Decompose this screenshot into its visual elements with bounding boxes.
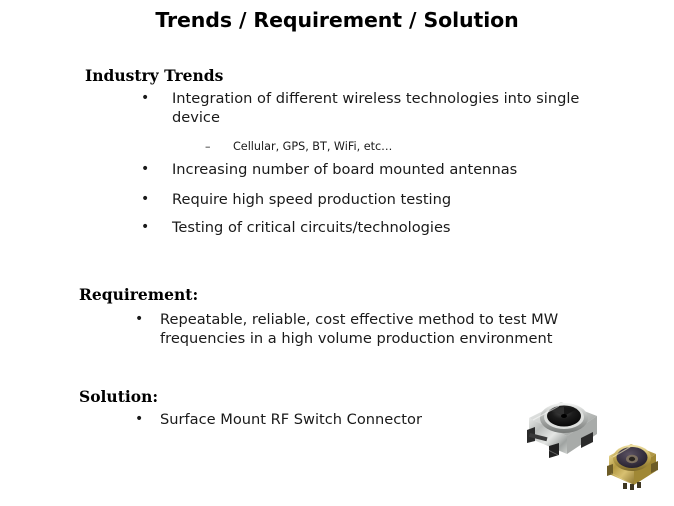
bullet-marker-icon: • <box>141 90 172 108</box>
list-item: • Testing of critical circuits/technolog… <box>141 219 591 238</box>
section-heading-requirement: Requirement: <box>79 285 198 304</box>
slide-canvas: Trends / Requirement / Solution Industry… <box>0 0 674 506</box>
section-heading-industry-trends: Industry Trends <box>85 66 223 85</box>
list-item: • Integration of different wireless tech… <box>141 90 591 127</box>
page-title: Trends / Requirement / Solution <box>0 8 674 32</box>
list-item-text: Increasing number of board mounted anten… <box>172 161 591 180</box>
bullet-marker-icon: • <box>135 411 160 429</box>
bullet-marker-icon: • <box>141 161 172 179</box>
list-item-text: Integration of different wireless techno… <box>172 90 591 127</box>
list-item-text: Require high speed production testing <box>172 191 591 210</box>
bullet-marker-icon: • <box>141 219 172 237</box>
list-item-text: Repeatable, reliable, cost effective met… <box>160 311 605 348</box>
dash-marker-icon: – <box>205 140 233 154</box>
list-item: • Require high speed production testing <box>141 191 591 210</box>
list-item: • Repeatable, reliable, cost effective m… <box>135 311 605 348</box>
bullet-marker-icon: • <box>141 191 172 209</box>
silver-rf-switch-connector-photo <box>519 396 605 464</box>
list-item-text: Cellular, GPS, BT, WiFi, etc… <box>233 140 585 154</box>
list-item: • Increasing number of board mounted ant… <box>141 161 591 180</box>
section-heading-solution: Solution: <box>79 387 158 406</box>
bullet-marker-icon: • <box>135 311 160 329</box>
list-item: – Cellular, GPS, BT, WiFi, etc… <box>205 140 585 154</box>
gold-rf-switch-connector-photo <box>601 440 663 496</box>
list-item-text: Testing of critical circuits/technologie… <box>172 219 591 238</box>
